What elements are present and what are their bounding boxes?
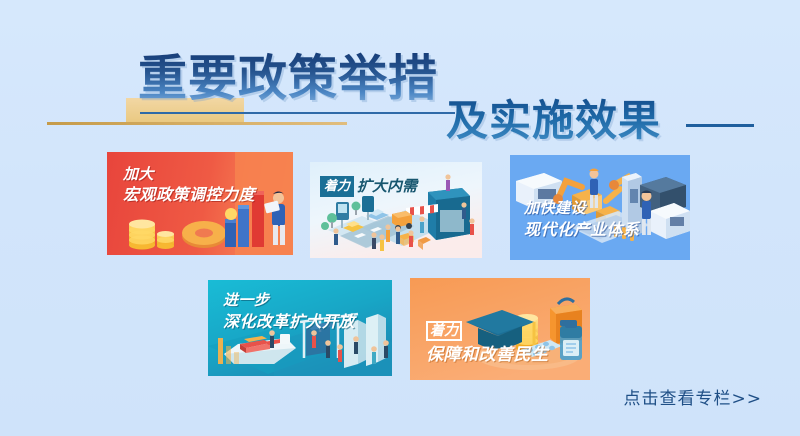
banner-title-block: 重要政策举措 重要政策举措 及实施效果 及实施效果 xyxy=(0,24,800,136)
view-column-link[interactable]: 点击查看专栏>> xyxy=(624,384,763,409)
card-3-line1: 加快建设 xyxy=(524,199,640,217)
title-underline xyxy=(140,112,455,114)
card-2-line1: 着力 xyxy=(320,176,354,197)
title-blue-rule xyxy=(686,124,754,127)
card-modern-industrial-system[interactable]: 加快建设 现代化产业体系 xyxy=(510,155,690,260)
card-macro-policy-regulation[interactable]: 加大 宏观政策调控力度 xyxy=(107,152,293,255)
card-5-line2: 保障和改善民生 xyxy=(426,345,549,366)
policy-banner: 重要政策举措 重要政策举措 及实施效果 及实施效果 xyxy=(0,0,800,436)
card-1-line1: 加大 xyxy=(123,165,255,183)
card-4-line1: 进一步 xyxy=(223,291,355,309)
card-1-line2: 宏观政策调控力度 xyxy=(123,185,255,205)
card-2-caption: 着力扩大内需 xyxy=(320,176,417,197)
title-gold-rule xyxy=(47,122,347,125)
card-4-line2: 深化改革扩大开放 xyxy=(223,312,355,332)
page-title: 重要政策举措 xyxy=(138,52,438,104)
card-4-caption: 进一步 深化改革扩大开放 xyxy=(223,291,355,332)
card-expand-domestic-demand[interactable]: 着力扩大内需 xyxy=(310,162,482,258)
card-reform-and-opening-up[interactable]: 进一步 深化改革扩大开放 xyxy=(208,280,392,376)
card-5-caption: 着力 保障和改善民生 xyxy=(426,320,549,366)
card-2-line2: 扩大内需 xyxy=(357,177,417,196)
card-5-line1-row: 着力 xyxy=(426,320,549,341)
card-1-caption: 加大 宏观政策调控力度 xyxy=(123,165,255,205)
page-subtitle: 及实施效果 xyxy=(446,98,661,144)
card-3-caption: 加快建设 现代化产业体系 xyxy=(524,199,640,240)
card-improve-peoples-livelihood[interactable]: 着力 保障和改善民生 xyxy=(410,278,590,380)
card-5-line1: 着力 xyxy=(426,321,462,341)
card-3-line2: 现代化产业体系 xyxy=(524,220,640,240)
